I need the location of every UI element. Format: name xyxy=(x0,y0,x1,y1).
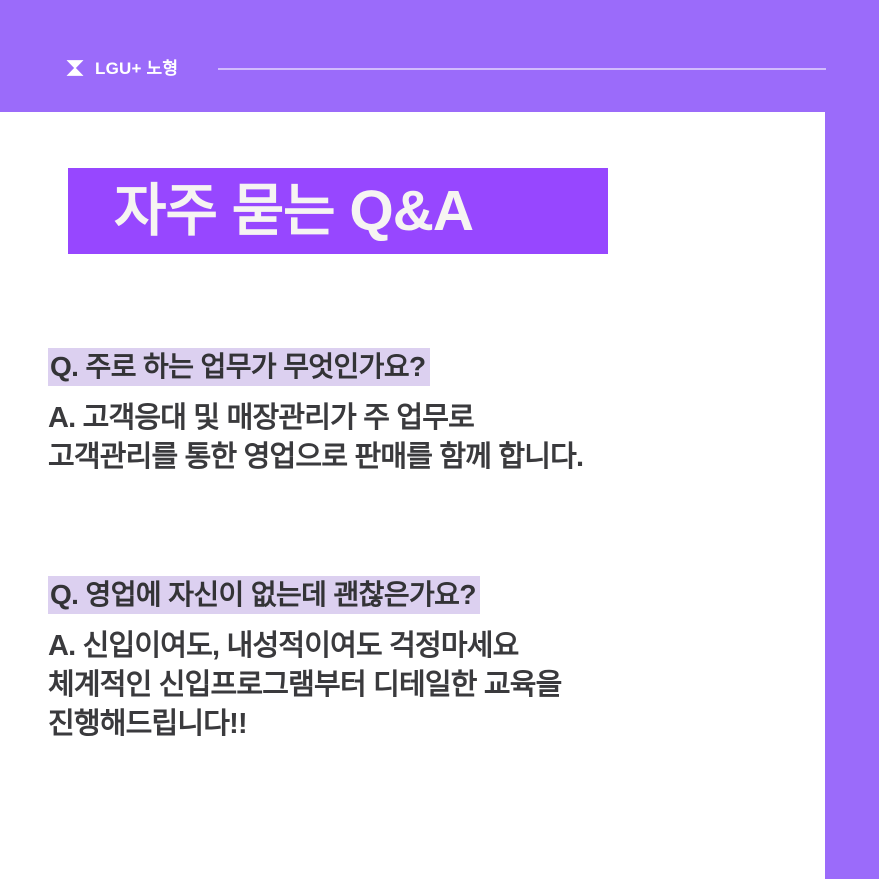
faq-answer-2-line-2: 체계적인 신입프로그램부터 디테일한 교육을 xyxy=(48,666,562,705)
header-bar: LGU+ 노형 xyxy=(0,0,879,112)
lgu-plus-logo-icon xyxy=(64,57,86,79)
faq-answer-2-line-3: 진행해드립니다!! xyxy=(48,705,562,744)
brand-label: LGU+ 노형 xyxy=(95,60,178,77)
header-divider-line xyxy=(218,68,826,70)
faq-list: Q. 주로 하는 업무가 무엇인가요? A. 고객응대 및 매장관리가 주 업무… xyxy=(0,112,825,879)
poster-canvas: LGU+ 노형 자주 묻는 Q&A Q. 주로 하는 업무가 무엇인가요? A.… xyxy=(0,0,879,879)
faq-answer-2: A. 신입이여도, 내성적이여도 걱정마세요 체계적인 신입프로그램부터 디테일… xyxy=(48,627,562,744)
faq-answer-2-line-1: A. 신입이여도, 내성적이여도 걱정마세요 xyxy=(48,627,562,666)
brand-lockup: LGU+ 노형 xyxy=(64,55,178,81)
faq-section: Q. 주로 하는 업무가 무엇인가요? A. 고객응대 및 매장관리가 주 업무… xyxy=(0,112,825,879)
faq-answer-1-line-2: 고객관리를 통한 영업으로 판매를 함께 합니다. xyxy=(48,438,583,477)
faq-question-2: Q. 영업에 자신이 없는데 괜찮은가요? xyxy=(48,576,480,614)
right-purple-strip xyxy=(825,112,879,879)
faq-item-2: Q. 영업에 자신이 없는데 괜찮은가요? A. 신입이여도, 내성적이여도 걱… xyxy=(48,576,562,744)
faq-answer-1: A. 고객응대 및 매장관리가 주 업무로 고객관리를 통한 영업으로 판매를 … xyxy=(48,399,583,477)
faq-question-1: Q. 주로 하는 업무가 무엇인가요? xyxy=(48,348,430,386)
faq-answer-1-line-1: A. 고객응대 및 매장관리가 주 업무로 xyxy=(48,399,583,438)
faq-item-1: Q. 주로 하는 업무가 무엇인가요? A. 고객응대 및 매장관리가 주 업무… xyxy=(48,348,583,477)
